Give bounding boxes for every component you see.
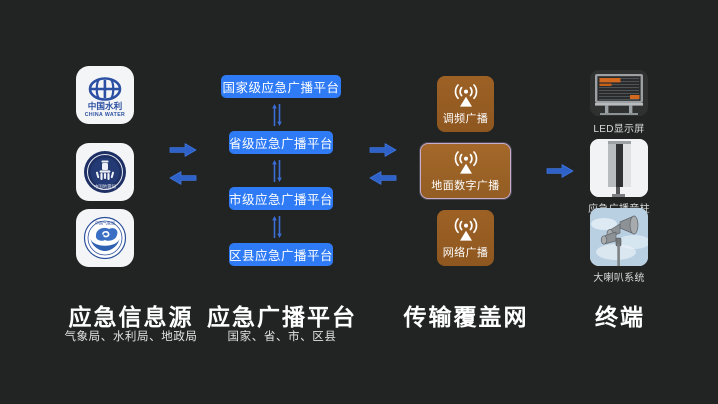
speaker-column-icon: [590, 139, 648, 197]
flow-arrow-transmission-to-terminal: [545, 163, 575, 179]
platform-link-provincial-municipal: [270, 159, 284, 183]
terminal-label-led-display: LED显示屏: [575, 120, 663, 135]
info-source-card-meteorological-administration[interactable]: 中国气象局: [76, 209, 134, 267]
platform-pill-district[interactable]: 区县应急广播平台: [229, 243, 333, 266]
platform-link-national-provincial: [270, 103, 284, 127]
diagram-canvas: 中国水利 CHINA WATER 中国地: [0, 0, 718, 404]
terminal-card-broadcast-column[interactable]: [590, 139, 648, 197]
svg-text:中国气象局: 中国气象局: [95, 220, 115, 226]
svg-text:中国水利: 中国水利: [88, 100, 123, 112]
china-water-logo: 中国水利 CHINA WATER: [79, 69, 131, 121]
info-source-card-earthquake-administration[interactable]: 中国地震局: [76, 143, 134, 201]
transmission-label-network: 网络广播: [443, 248, 489, 259]
terminal-label-loudspeaker-system: 大喇叭系统: [572, 269, 666, 284]
transmission-card-network-broadcast[interactable]: 网络广播: [437, 210, 494, 266]
svg-text:中国地震局: 中国地震局: [94, 183, 116, 190]
platform-pill-provincial[interactable]: 省级应急广播平台: [229, 131, 333, 154]
flow-arrow-platform-to-source: [168, 170, 198, 186]
transmission-label-terrestrial-digital: 地面数字广播: [431, 181, 499, 192]
info-source-card-china-water[interactable]: 中国水利 CHINA WATER: [76, 66, 134, 124]
flow-arrow-transmission-to-platform: [368, 170, 398, 186]
broadcast-tower-icon: [452, 84, 480, 111]
led-display-icon: [590, 70, 648, 116]
meteorological-administration-logo: 中国气象局: [79, 212, 131, 264]
transmission-card-terrestrial-digital[interactable]: 地面数字广播: [420, 143, 511, 199]
platform-pill-national[interactable]: 国家级应急广播平台: [221, 75, 341, 98]
flow-arrow-platform-to-transmission: [368, 142, 398, 158]
broadcast-tower-icon: [452, 151, 480, 178]
flow-arrow-source-to-platform: [168, 142, 198, 158]
terminal-card-led-display[interactable]: [590, 70, 648, 116]
horn-speaker-icon: [590, 208, 648, 266]
svg-text:CHINA WATER: CHINA WATER: [85, 112, 125, 118]
transmission-label-fm: 调频广播: [443, 114, 489, 125]
section-title-terminal: 终端: [572, 298, 668, 332]
section-subtitle-info-source: 气象局、水利局、地政局: [36, 328, 226, 344]
broadcast-tower-icon: [452, 218, 480, 245]
section-title-broadcast-platform: 应急广播平台: [200, 298, 364, 332]
platform-link-municipal-district: [270, 215, 284, 239]
earthquake-administration-logo: 中国地震局: [79, 146, 131, 198]
section-subtitle-broadcast-platform: 国家、省、市、区县: [200, 328, 364, 344]
transmission-card-fm-broadcast[interactable]: 调频广播: [437, 76, 494, 132]
section-title-info-source: 应急信息源: [36, 298, 226, 332]
platform-pill-municipal[interactable]: 市级应急广播平台: [229, 187, 333, 210]
section-title-transmission-network: 传输覆盖网: [390, 298, 542, 332]
terminal-card-loudspeaker-system[interactable]: [590, 208, 648, 266]
